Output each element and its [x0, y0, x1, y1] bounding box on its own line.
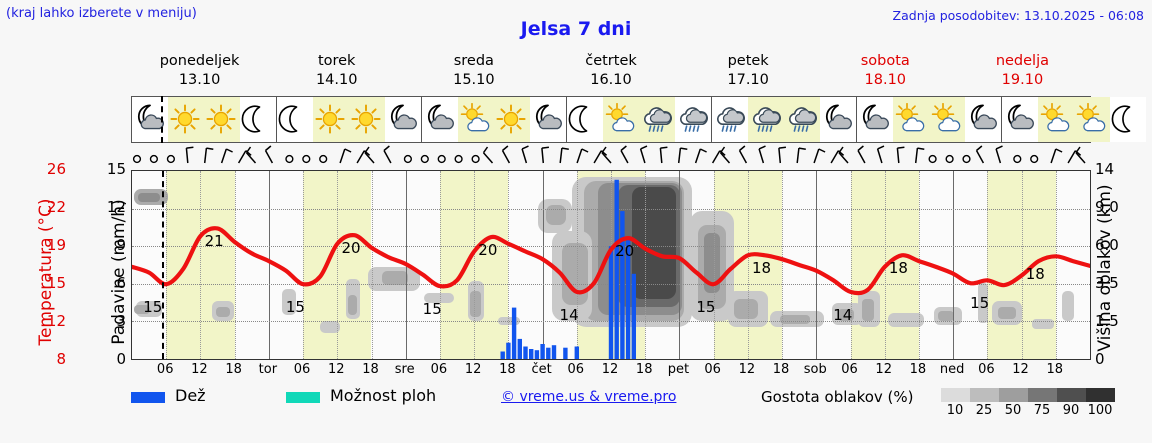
day-name: sreda — [405, 52, 542, 71]
temperature-value-label: 18 — [889, 259, 908, 277]
temperature-value-label: 18 — [752, 259, 771, 277]
time-tick-ned: ned — [940, 362, 965, 377]
day-header-4: petek17.10 — [680, 52, 817, 92]
time-tick-06: 06 — [431, 362, 448, 377]
day-name: ponedeljek — [131, 52, 268, 71]
time-tick-12: 12 — [465, 362, 482, 377]
axis-tick: 12 — [47, 312, 66, 330]
cloud-density-swatch-50 — [999, 388, 1028, 402]
weather-icon-moon-cloud — [965, 97, 1001, 142]
cloud-density-tick-100: 100 — [1088, 403, 1113, 418]
temperature-value-label: 18 — [1026, 265, 1045, 283]
cloud-height-axis-ticks: 149.06.03.51.50 — [1095, 160, 1135, 370]
day-date: 16.10 — [542, 71, 679, 90]
icon-day-0 — [132, 97, 277, 142]
time-tick-18: 18 — [225, 362, 242, 377]
day-date: 14.10 — [268, 71, 405, 90]
axis-tick: 0 — [1095, 350, 1105, 368]
axis-tick: 0 — [116, 350, 126, 368]
cloud-density-legend-label: Gostota oblakov (%) — [761, 388, 914, 406]
weather-icon-sun — [168, 97, 204, 142]
cloud-density-swatch-100 — [1086, 388, 1115, 402]
weather-icon-strip — [131, 96, 1091, 143]
axis-tick: 22 — [47, 198, 66, 216]
weather-icon-sun — [204, 97, 240, 142]
temperature-axis-ticks: 26221915128 — [30, 160, 66, 370]
time-tick-sob: sob — [804, 362, 827, 377]
temperature-value-label: 20 — [615, 242, 634, 260]
temperature-value-label: 15 — [423, 300, 442, 318]
temperature-value-label: 20 — [341, 239, 360, 257]
axis-tick: 8 — [56, 350, 66, 368]
weather-icon-sun — [313, 97, 349, 142]
icon-day-4 — [712, 97, 857, 142]
cloud-density-swatch-90 — [1057, 388, 1086, 402]
temperature-value-label: 21 — [205, 232, 224, 250]
weather-icon-sun-cloud — [929, 97, 965, 142]
weather-icon-moon — [277, 97, 313, 142]
time-tick-18: 18 — [499, 362, 516, 377]
rain-legend-label: Dež — [175, 386, 206, 405]
icon-day-5 — [857, 97, 1002, 142]
current-time-marker-chart — [162, 171, 164, 359]
time-tick-12: 12 — [328, 362, 345, 377]
axis-tick: 6 — [116, 274, 126, 292]
showers-legend-label: Možnost ploh — [330, 386, 436, 405]
temperature-value-label: 15 — [143, 298, 162, 316]
time-tick-12: 12 — [191, 362, 208, 377]
weather-icon-cloud-rain — [748, 97, 784, 142]
temperature-value-label: 15 — [286, 298, 305, 316]
axis-tick: 19 — [47, 236, 66, 254]
time-tick-18: 18 — [773, 362, 790, 377]
axis-tick: 12 — [107, 198, 126, 216]
precipitation-axis-ticks: 15129630 — [96, 160, 126, 370]
time-tick-12: 12 — [739, 362, 756, 377]
axis-tick: 1.5 — [1095, 312, 1119, 330]
time-tick-pet: pet — [668, 362, 689, 377]
weather-icon-sun — [349, 97, 385, 142]
axis-tick: 26 — [47, 160, 66, 178]
time-tick-06: 06 — [704, 362, 721, 377]
cloud-density-tick-50: 50 — [1005, 403, 1022, 418]
time-tick-06: 06 — [841, 362, 858, 377]
day-header-2: sreda15.10 — [405, 52, 542, 92]
time-tick-06: 06 — [157, 362, 174, 377]
axis-tick: 14 — [1095, 160, 1114, 178]
weather-icon-moon — [240, 97, 276, 142]
temperature-value-label: 15 — [970, 294, 989, 312]
time-tick-12: 12 — [602, 362, 619, 377]
day-header-row: ponedeljek13.10torek14.10sreda15.10četrt… — [131, 52, 1091, 92]
weather-icon-cloud-rain — [712, 97, 748, 142]
weather-icon-sun-cloud — [1074, 97, 1110, 142]
temperature-value-label: 15 — [696, 298, 715, 316]
weather-icon-moon — [567, 97, 603, 142]
icon-day-2 — [422, 97, 567, 142]
day-date: 15.10 — [405, 71, 542, 90]
icon-day-3 — [567, 97, 712, 142]
temperature-value-label: 20 — [478, 241, 497, 259]
cloud-density-swatch-25 — [970, 388, 999, 402]
time-tick-18: 18 — [910, 362, 927, 377]
cloud-density-tick-10: 10 — [947, 403, 964, 418]
day-name: nedelja — [954, 52, 1091, 71]
legend: Dež Možnost ploh © vreme.us & vreme.pro … — [131, 388, 1141, 422]
axis-tick: 3.5 — [1095, 274, 1119, 292]
cloud-density-color-ramp — [941, 388, 1115, 402]
time-tick-sre: sre — [395, 362, 415, 377]
time-tick-čet: čet — [531, 362, 551, 377]
temperature-curve — [132, 171, 1090, 359]
last-update-stamp: Zadnja posodobitev: 13.10.2025 - 06:08 — [893, 8, 1144, 23]
axis-tick: 6.0 — [1095, 236, 1119, 254]
time-tick-06: 06 — [978, 362, 995, 377]
cloud-density-tick-90: 90 — [1063, 403, 1080, 418]
credit-link[interactable]: © vreme.us & vreme.pro — [501, 389, 676, 405]
meteogram-plot: 1521152015201420151814181518 — [131, 170, 1091, 360]
cloud-density-ramp-ticks: 1025507590100 — [931, 403, 1131, 419]
day-date: 19.10 — [954, 71, 1091, 90]
time-tick-12: 12 — [875, 362, 892, 377]
day-name: torek — [268, 52, 405, 71]
weather-icon-sun-cloud — [893, 97, 929, 142]
time-tick-06: 06 — [294, 362, 311, 377]
axis-tick: 15 — [107, 160, 126, 178]
axis-tick: 9 — [116, 236, 126, 254]
time-tick-06: 06 — [568, 362, 585, 377]
wind-barb-strip — [131, 145, 1091, 170]
weather-icon-moon-cloud — [857, 97, 893, 142]
weather-icon-sun-cloud — [603, 97, 639, 142]
weather-icon-moon-cloud — [530, 97, 566, 142]
axis-tick: 3 — [116, 312, 126, 330]
axis-tick: 9.0 — [1095, 198, 1119, 216]
axis-tick: 15 — [47, 274, 66, 292]
cloud-density-tick-25: 25 — [976, 403, 993, 418]
weather-icon-sun-cloud — [458, 97, 494, 142]
time-tick-18: 18 — [362, 362, 379, 377]
weather-icon-cloud-rain — [639, 97, 675, 142]
rain-legend-swatch — [131, 392, 165, 403]
weather-icon-moon — [1110, 97, 1146, 142]
day-header-6: nedelja19.10 — [954, 52, 1091, 92]
day-name: sobota — [817, 52, 954, 71]
weather-icon-sun-cloud — [1038, 97, 1074, 142]
weather-icon-moon-cloud — [1002, 97, 1038, 142]
showers-legend-swatch — [286, 392, 320, 403]
weather-icon-moon-cloud — [820, 97, 856, 142]
weather-icon-moon-cloud — [422, 97, 458, 142]
temperature-value-label: 14 — [833, 306, 852, 324]
day-date: 18.10 — [817, 71, 954, 90]
temperature-value-label: 14 — [560, 306, 579, 324]
time-tick-12: 12 — [1012, 362, 1029, 377]
day-name: petek — [680, 52, 817, 71]
day-date: 13.10 — [131, 71, 268, 90]
time-tick-18: 18 — [1047, 362, 1064, 377]
time-tick-18: 18 — [636, 362, 653, 377]
day-header-3: četrtek16.10 — [542, 52, 679, 92]
cloud-density-swatch-10 — [941, 388, 970, 402]
cloud-density-swatch-75 — [1028, 388, 1057, 402]
time-axis-ticks: 061218tor061218sre061218čet061218pet0612… — [131, 362, 1091, 380]
weather-icon-sun — [494, 97, 530, 142]
weather-icon-moon-cloud — [385, 97, 421, 142]
time-tick-tor: tor — [259, 362, 277, 377]
weather-icon-cloud-rain — [675, 97, 711, 142]
cloud-density-tick-75: 75 — [1034, 403, 1051, 418]
day-name: četrtek — [542, 52, 679, 71]
day-date: 17.10 — [680, 71, 817, 90]
day-header-1: torek14.10 — [268, 52, 405, 92]
current-time-marker-icons — [161, 96, 163, 143]
icon-day-1 — [277, 97, 422, 142]
day-header-0: ponedeljek13.10 — [131, 52, 268, 92]
icon-day-6 — [1002, 97, 1146, 142]
day-header-5: sobota18.10 — [817, 52, 954, 92]
weather-icon-cloud-rain — [784, 97, 820, 142]
